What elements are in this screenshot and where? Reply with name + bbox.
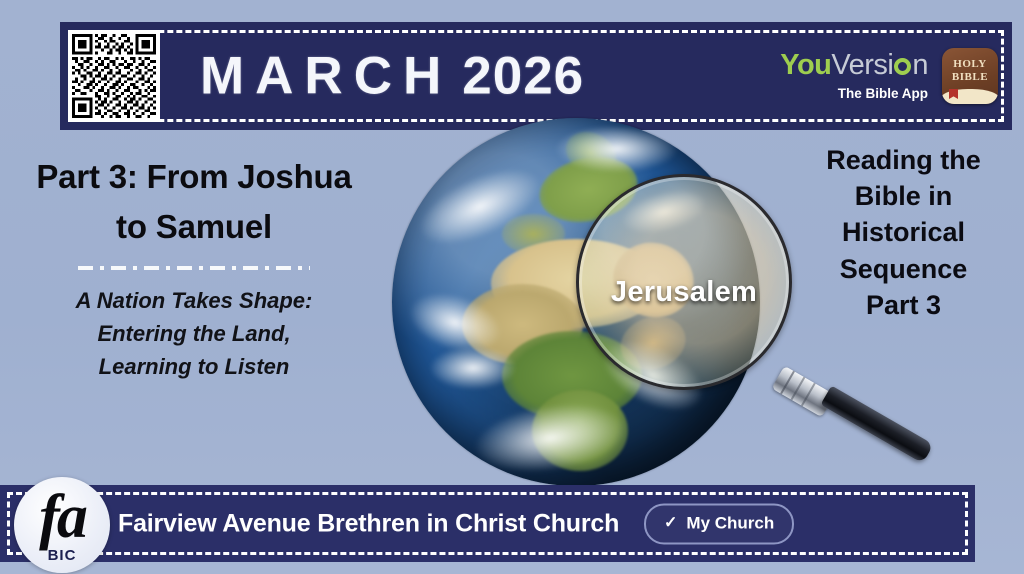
subtitle-line-3: Learning to Listen bbox=[99, 354, 290, 379]
bible-icon-line1: HOLY bbox=[953, 58, 986, 70]
youversion-version-text: Versi bbox=[831, 49, 893, 81]
check-icon: ✓ bbox=[664, 516, 677, 532]
right-text-column: Reading the Bible in Historical Sequence… bbox=[801, 142, 1006, 323]
right-line-1: Reading the bbox=[826, 145, 981, 175]
magnifier-handle bbox=[821, 385, 934, 463]
youversion-wordmark: YouVersin bbox=[758, 51, 928, 80]
cloud-band bbox=[554, 125, 679, 173]
text-divider bbox=[78, 266, 310, 270]
bible-icon-text: HOLY BIBLE bbox=[942, 58, 998, 84]
church-name-label: Fairview Avenue Brethren in Christ Churc… bbox=[118, 509, 619, 538]
earth-globe-image: Jerusalem bbox=[378, 118, 848, 496]
bible-icon-line2: BIBLE bbox=[952, 71, 988, 83]
youversion-version-suffix: n bbox=[912, 49, 928, 81]
magnifier-ferrule bbox=[772, 366, 835, 418]
jerusalem-label: Jerusalem bbox=[579, 276, 789, 309]
right-line-2: Bible in bbox=[855, 181, 953, 211]
logo-abbrev: BIC bbox=[14, 547, 110, 564]
series-part-title: Part 3: From Joshua to Samuel bbox=[34, 152, 354, 252]
youversion-logo[interactable]: YouVersin The Bible App bbox=[758, 51, 928, 101]
subtitle-line-1: A Nation Takes Shape: bbox=[76, 288, 313, 313]
my-church-label: My Church bbox=[686, 514, 774, 534]
left-text-column: Part 3: From Joshua to Samuel A Nation T… bbox=[34, 152, 354, 383]
fairview-avenue-bic-logo[interactable]: fa BIC bbox=[14, 477, 110, 573]
youversion-ring-icon bbox=[894, 58, 911, 75]
subtitle-line-2: Entering the Land, bbox=[97, 321, 290, 346]
my-church-badge[interactable]: ✓ My Church bbox=[644, 503, 794, 544]
right-line-4: Sequence bbox=[840, 254, 968, 284]
slide-canvas: MARCH2026 YouVersin The Bible App HOLY B… bbox=[0, 0, 1024, 574]
youversion-tagline: The Bible App bbox=[758, 86, 928, 101]
holy-bible-app-icon[interactable]: HOLY BIBLE bbox=[942, 48, 998, 104]
header-banner: MARCH2026 YouVersin The Bible App HOLY B… bbox=[60, 22, 1012, 130]
year-label: 2026 bbox=[462, 47, 584, 106]
youversion-you-text: You bbox=[780, 49, 831, 81]
right-line-3: Historical bbox=[842, 217, 965, 247]
month-label: MARCH bbox=[200, 47, 452, 106]
right-line-5: Part 3 bbox=[866, 290, 941, 320]
page-title: MARCH2026 bbox=[200, 50, 584, 103]
logo-monogram: fa bbox=[14, 481, 110, 553]
qr-code-icon[interactable] bbox=[68, 30, 160, 122]
footer-banner: Fairview Avenue Brethren in Christ Churc… bbox=[0, 485, 975, 562]
magnifying-glass-icon: Jerusalem bbox=[576, 174, 792, 390]
series-subtitle: A Nation Takes Shape: Entering the Land,… bbox=[34, 284, 354, 383]
